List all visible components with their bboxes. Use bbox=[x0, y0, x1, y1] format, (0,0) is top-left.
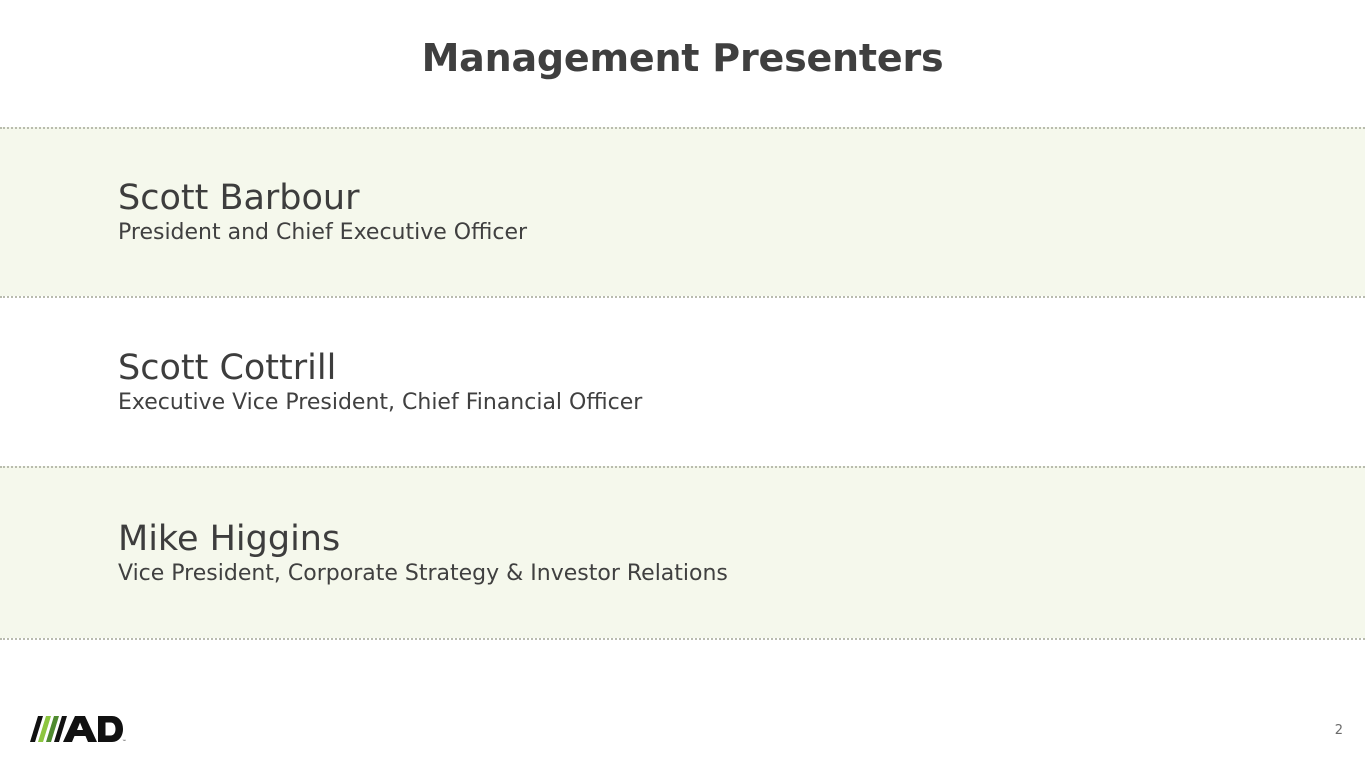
page-title: Management Presenters bbox=[0, 38, 1365, 80]
presenter-row-2: Scott Cottrill Executive Vice President,… bbox=[0, 296, 1365, 466]
presenter-role: Executive Vice President, Chief Financia… bbox=[118, 390, 1365, 416]
logo-slashes bbox=[30, 716, 67, 742]
presenter-name: Scott Cottrill bbox=[118, 348, 1365, 388]
presenter-list: Scott Barbour President and Chief Execut… bbox=[0, 127, 1365, 640]
page-number: 2 bbox=[1335, 723, 1343, 738]
presenter-name: Scott Barbour bbox=[118, 178, 1365, 218]
presenter-row-3: Mike Higgins Vice President, Corporate S… bbox=[0, 466, 1365, 638]
presenter-row-1-content: Scott Barbour President and Chief Execut… bbox=[0, 178, 1365, 247]
ads-logo: ™ bbox=[27, 714, 127, 748]
logo-wordmark bbox=[63, 716, 123, 742]
bottom-divider bbox=[0, 638, 1365, 640]
presenter-row-1: Scott Barbour President and Chief Execut… bbox=[0, 127, 1365, 296]
presenter-row-3-content: Mike Higgins Vice President, Corporate S… bbox=[0, 519, 1365, 588]
trademark-mark: ™ bbox=[122, 739, 127, 745]
slide-canvas: Management Presenters Scott Barbour Pres… bbox=[0, 0, 1365, 768]
title-area: Management Presenters bbox=[0, 38, 1365, 80]
presenter-role: President and Chief Executive Officer bbox=[118, 220, 1365, 246]
presenter-name: Mike Higgins bbox=[118, 519, 1365, 559]
presenter-row-2-content: Scott Cottrill Executive Vice President,… bbox=[0, 348, 1365, 417]
presenter-role: Vice President, Corporate Strategy & Inv… bbox=[118, 561, 1365, 587]
